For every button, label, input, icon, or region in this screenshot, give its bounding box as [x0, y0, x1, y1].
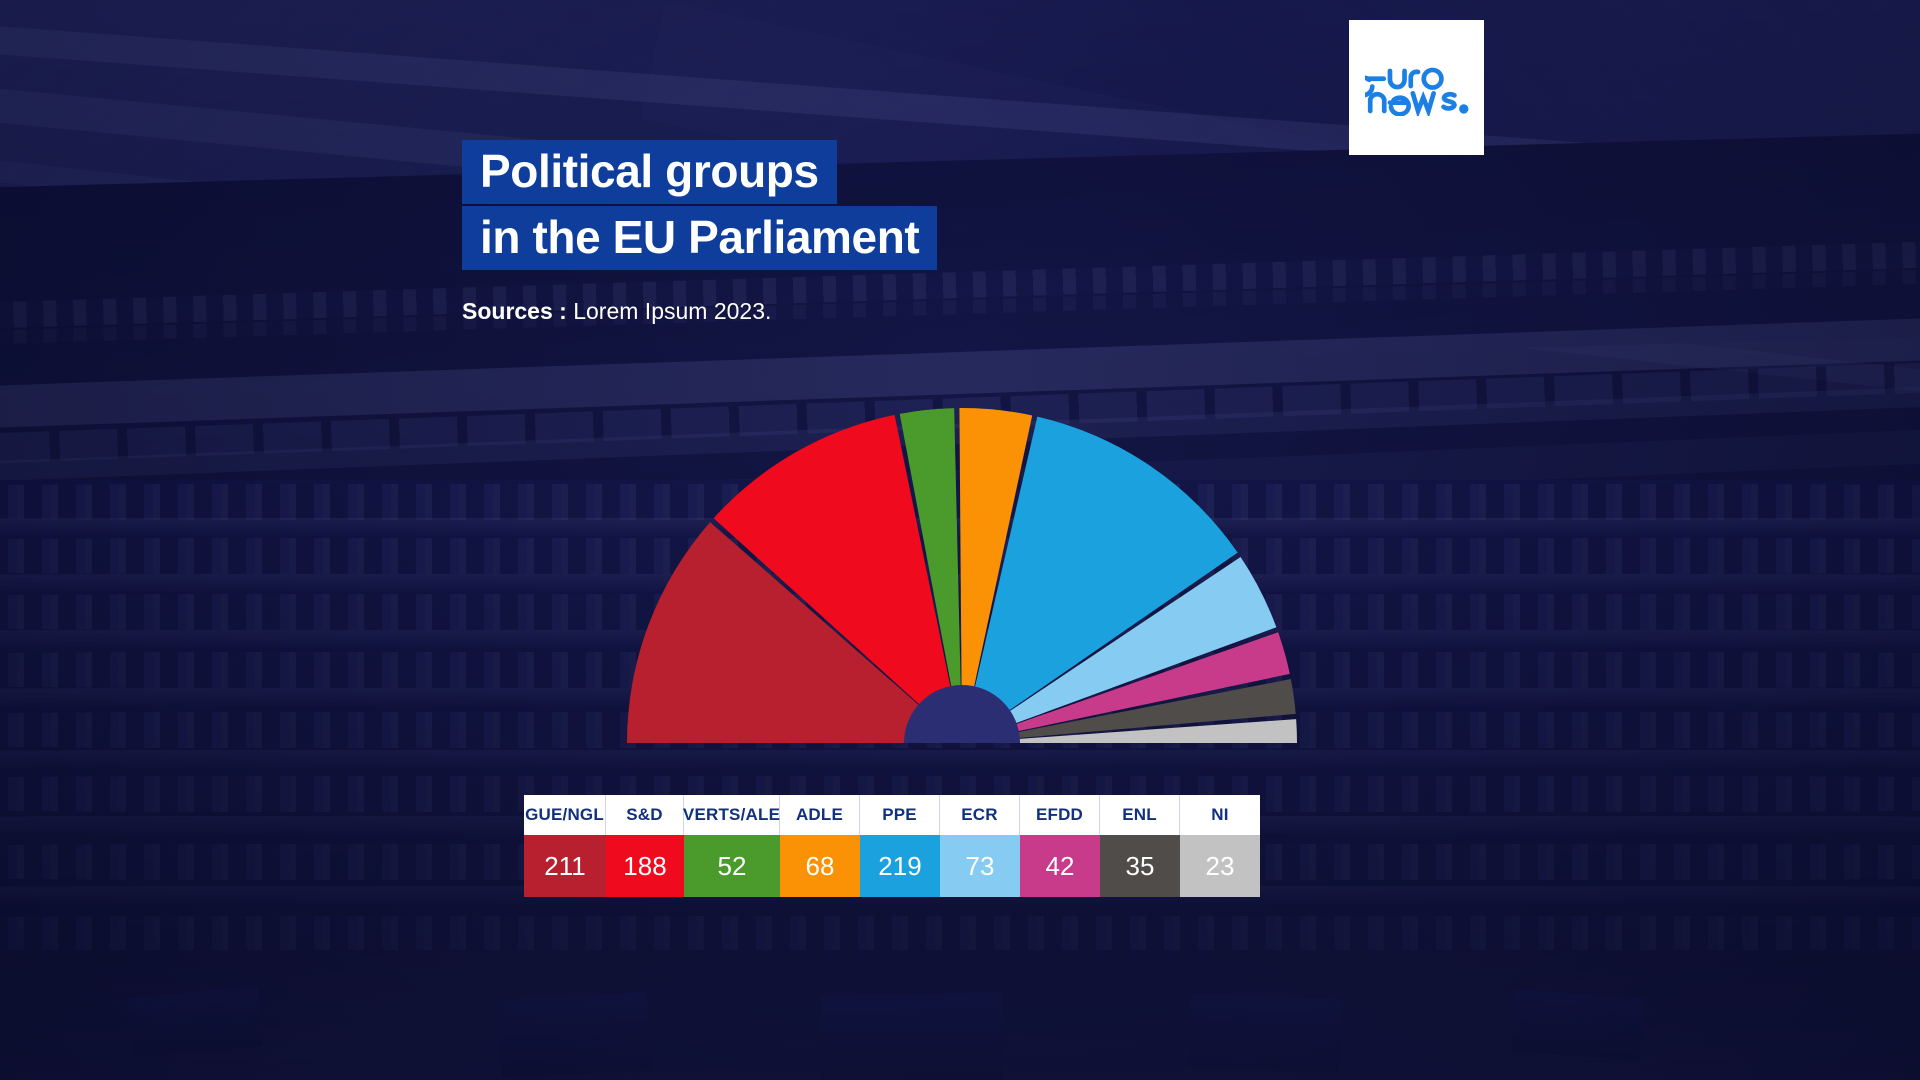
legend-column-gue-ngl[interactable]: GUE/NGL211	[524, 795, 606, 897]
legend-value-cell: 73	[940, 835, 1020, 897]
page-title-line-2: in the EU Parliament	[462, 206, 937, 270]
legend-column-s-d[interactable]: S&D188	[606, 795, 684, 897]
legend-column-efdd[interactable]: EFDD42	[1020, 795, 1100, 897]
legend-header-cell: NI	[1180, 795, 1260, 835]
legend-value-cell: 23	[1180, 835, 1260, 897]
sources-label: Sources :	[462, 298, 567, 324]
legend-header-cell: ECR	[940, 795, 1020, 835]
legend-header-cell: VERTS/ALE	[684, 795, 780, 835]
legend-value-cell: 42	[1020, 835, 1100, 897]
legend-header-cell: ADLE	[780, 795, 860, 835]
legend-value-cell: 68	[780, 835, 860, 897]
legend-value-cell: 188	[606, 835, 684, 897]
legend-value-cell: 35	[1100, 835, 1180, 897]
legend-column-adle[interactable]: ADLE68	[780, 795, 860, 897]
legend-header-cell: GUE/NGL	[524, 795, 606, 835]
title-block: Political groups in the EU Parliament	[462, 140, 937, 270]
legend-value-cell: 52	[684, 835, 780, 897]
legend-header-cell: S&D	[606, 795, 684, 835]
page-title-line-1: Political groups	[462, 140, 837, 204]
legend-header-cell: EFDD	[1020, 795, 1100, 835]
legend-column-ni[interactable]: NI23	[1180, 795, 1260, 897]
legend-value-cell: 211	[524, 835, 606, 897]
legend-column-ppe[interactable]: PPE219	[860, 795, 940, 897]
euronews-logo[interactable]	[1349, 20, 1484, 155]
legend-column-ecr[interactable]: ECR73	[940, 795, 1020, 897]
legend-header-cell: PPE	[860, 795, 940, 835]
euronews-wordmark-icon	[1365, 59, 1469, 116]
sources-caption: Sources : Lorem Ipsum 2023.	[462, 298, 771, 325]
legend-table: GUE/NGL211S&D188VERTS/ALE52ADLE68PPE219E…	[524, 795, 1260, 897]
hemicycle-chart: GUE/NGL: 211S&D: 188VERTS/ALE: 52ADLE: 6…	[592, 380, 1332, 760]
legend-header-cell: ENL	[1100, 795, 1180, 835]
legend-column-enl[interactable]: ENL35	[1100, 795, 1180, 897]
legend-value-cell: 219	[860, 835, 940, 897]
sources-value: Lorem Ipsum 2023.	[573, 298, 771, 324]
legend-column-verts-ale[interactable]: VERTS/ALE52	[684, 795, 780, 897]
